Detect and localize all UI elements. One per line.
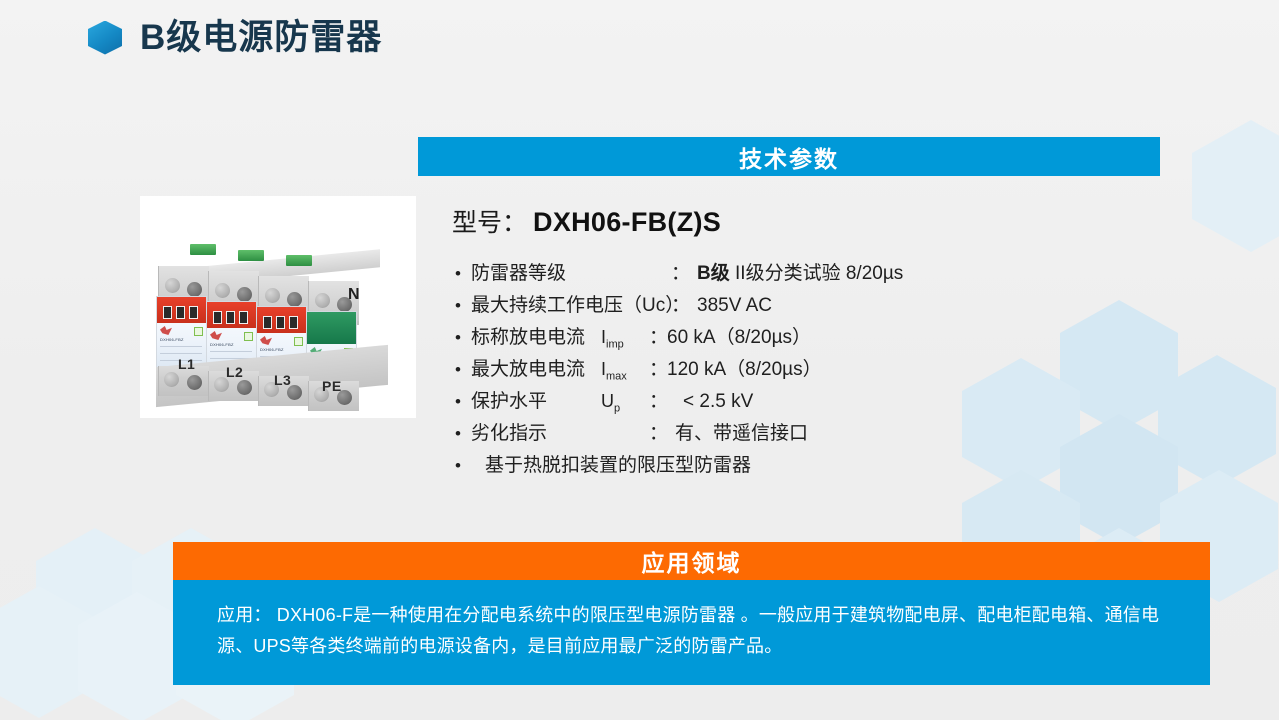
module-spec-line <box>160 346 202 347</box>
hexagon-decoration-icon <box>0 586 98 718</box>
terminal-green <box>190 244 216 255</box>
screw-hole-icon <box>287 292 302 307</box>
spec-row: • 防雷器等级 ： B级 II级分类试验 8/20µs <box>455 258 1155 290</box>
list-bullet-icon: • <box>455 329 471 346</box>
spec-row: • 最大持续工作电压（Uc） ： 385V AC <box>455 290 1155 322</box>
module-spec-line <box>160 353 202 354</box>
brand-logo-icon <box>160 326 172 335</box>
brand-logo-icon <box>210 331 222 340</box>
spec-symbol-subscript: p <box>614 403 620 415</box>
spec-row: • 基于热脱扣装置的限压型防雷器 <box>455 450 1155 482</box>
list-bullet-icon: • <box>455 265 471 282</box>
phase-label-l1: L1 <box>178 356 195 372</box>
spec-name: 最大持续工作电压（Uc） <box>471 290 671 317</box>
model-number-value: DXH06-FB(Z)S <box>533 207 721 238</box>
hexagon-decoration-icon <box>1158 355 1276 487</box>
indicator-window-icon <box>189 306 198 319</box>
screw-hole-icon <box>165 278 180 293</box>
module-cap <box>307 312 356 344</box>
brand-logo-icon <box>260 336 272 345</box>
spec-symbol: Imax <box>601 359 649 383</box>
indicator-window-icon <box>226 311 235 324</box>
spec-row: • 劣化指示 ： 有、带遥信接口 <box>455 418 1155 450</box>
module-model-label: DXH06-FBZ <box>260 347 284 352</box>
spec-colon: ： <box>671 290 697 317</box>
spec-colon: ： <box>649 418 675 445</box>
indicator-window-icon <box>239 311 248 324</box>
spec-colon: ： <box>649 322 667 349</box>
spec-colon: ： <box>671 258 697 285</box>
indicator-window-icon <box>213 311 222 324</box>
module-model-label: DXH06-FBZ <box>210 342 234 347</box>
indicator-window-icon <box>276 316 285 329</box>
phase-label-l2: L2 <box>226 364 243 380</box>
spec-value: < 2.5 kV <box>683 391 753 413</box>
list-bullet-icon: • <box>455 361 471 378</box>
spec-value-rest: II级分类试验 8/20µs <box>730 263 904 284</box>
spec-colon: ： <box>649 386 683 413</box>
application-header: 应用领域 <box>173 542 1210 580</box>
indicator-window-icon <box>289 316 298 329</box>
screw-hole-icon <box>315 293 330 308</box>
terminal-green <box>286 255 312 266</box>
spec-symbol: Up <box>601 391 649 415</box>
spec-symbol-subscript: imp <box>606 339 624 351</box>
module-badge-icon <box>294 337 303 346</box>
application-body: 应用： DXH06-F是一种使用在分配电系统中的限压型电源防雷器 。一般应用于建… <box>173 580 1210 685</box>
spec-value-bold: B级 <box>697 263 730 284</box>
tech-params-header: 技术参数 <box>418 137 1160 176</box>
hexagon-decoration-icon <box>36 528 154 660</box>
hexagon-icon <box>88 21 122 55</box>
spec-value: 385V AC <box>697 295 772 317</box>
spec-value: 60 kA（8/20µs） <box>667 322 811 349</box>
screw-hole-icon <box>187 282 202 297</box>
spec-name: 标称放电电流 <box>471 322 601 349</box>
spec-row: • 标称放电电流 Iimp ： 60 kA（8/20µs） <box>455 322 1155 354</box>
screw-hole-icon <box>215 283 230 298</box>
phase-label-pe: PE <box>322 378 342 394</box>
tech-params-header-label: 技术参数 <box>739 140 839 174</box>
terminal-green <box>238 250 264 261</box>
spec-list: • 防雷器等级 ： B级 II级分类试验 8/20µs • 最大持续工作电压（U… <box>455 258 1155 482</box>
slide-canvas: B级电源防雷器 技术参数 型号： DXH06-FB(Z)S • 防雷器等级 ： … <box>0 0 1279 720</box>
spec-symbol-subscript: max <box>606 371 627 383</box>
spec-row: • 最大放电电流 Imax ： 120 kA（8/20µs） <box>455 354 1155 386</box>
list-bullet-icon: • <box>455 425 471 442</box>
spec-name: 基于热脱扣装置的限压型防雷器 <box>471 450 751 477</box>
module-spec-line <box>210 351 252 352</box>
spec-name: 保护水平 <box>471 386 601 413</box>
indicator-window-icon <box>163 306 172 319</box>
spec-symbol-base: U <box>601 391 614 411</box>
indicator-window-icon <box>263 316 272 329</box>
page-title-label: B级电源防雷器 <box>140 20 382 55</box>
module-model-label: DXH06-FBZ <box>160 337 184 342</box>
phase-label-l3: L3 <box>274 372 291 388</box>
spec-symbol: Iimp <box>601 327 649 351</box>
module-badge-icon <box>194 327 203 336</box>
list-bullet-icon: • <box>455 297 471 314</box>
screw-hole-icon <box>187 375 202 390</box>
screw-hole-icon <box>237 287 252 302</box>
page-title: B级电源防雷器 <box>88 20 382 55</box>
application-body-text: 应用： DXH06-F是一种使用在分配电系统中的限压型电源防雷器 。一般应用于建… <box>217 600 1177 662</box>
neutral-label: N <box>348 286 360 304</box>
indicator-window-icon <box>176 306 185 319</box>
spec-value: 有、带遥信接口 <box>675 418 808 445</box>
spec-name: 劣化指示 <box>471 418 649 445</box>
application-header-label: 应用领域 <box>642 544 742 578</box>
spec-name: 防雷器等级 <box>471 258 671 285</box>
spec-value: B级 II级分类试验 8/20µs <box>697 258 903 285</box>
model-number-label: 型号： <box>452 203 527 239</box>
spec-colon: ： <box>649 354 667 381</box>
spec-value: 120 kA（8/20µs） <box>667 354 822 381</box>
surge-protector-device: N DXH06-FBZ DXH06-FBZ <box>154 226 402 396</box>
model-number-line: 型号： DXH06-FB(Z)S <box>452 203 721 239</box>
screw-hole-icon <box>237 380 252 395</box>
product-image: N DXH06-FBZ DXH06-FBZ <box>140 196 416 418</box>
list-bullet-icon: • <box>455 393 471 410</box>
spec-row: • 保护水平 Up ： < 2.5 kV <box>455 386 1155 418</box>
module-badge-icon <box>244 332 253 341</box>
screw-hole-icon <box>164 372 179 387</box>
screw-hole-icon <box>265 288 280 303</box>
spec-name: 最大放电电流 <box>471 354 601 381</box>
list-bullet-icon: • <box>455 457 471 474</box>
hexagon-decoration-icon <box>1192 120 1279 252</box>
